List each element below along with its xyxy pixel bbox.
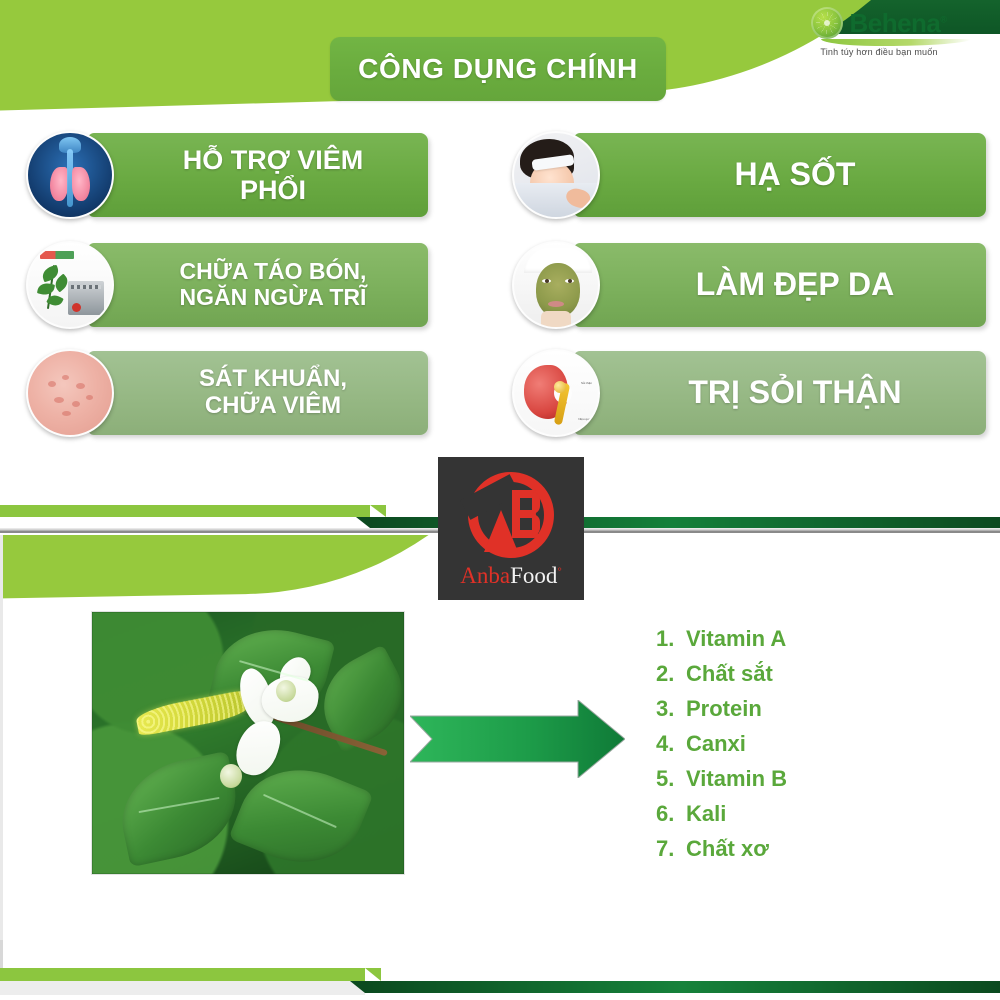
anbafood-logo: AnbaFood° — [438, 457, 584, 600]
right-arrow-icon — [410, 700, 625, 778]
benefit-label: TRỊ SỎI THẬN — [688, 375, 901, 411]
benefit-bar: HỖ TRỢ VIÊM PHỔI — [88, 133, 428, 217]
list-item-label: Canxi — [686, 733, 746, 755]
benefit-label: SÁT KHUẨN, CHỮA VIÊM — [199, 366, 347, 420]
list-item-label: Chất xơ — [686, 838, 769, 860]
benefit-label: LÀM ĐẸP DA — [696, 267, 895, 303]
list-item-label: Vitamin B — [686, 768, 787, 790]
registered-mark: ® — [940, 14, 946, 24]
list-item-number: 1. — [656, 628, 678, 650]
list-item: 2. Chất sắt — [656, 663, 787, 685]
list-item-label: Protein — [686, 698, 762, 720]
benefit-bar: TRỊ SỎI THẬN — [574, 351, 986, 435]
lungs-anatomy-icon — [26, 131, 114, 219]
page-title-banner: CÔNG DỤNG CHÍNH — [330, 37, 666, 101]
list-item: 7. Chất xơ — [656, 838, 787, 860]
list-item: 1. Vitamin A — [656, 628, 787, 650]
degree-mark: ° — [557, 565, 561, 577]
list-item-number: 7. — [656, 838, 678, 860]
list-item-number: 4. — [656, 733, 678, 755]
list-item: 4. Canxi — [656, 733, 787, 755]
child-fever-icon — [512, 131, 600, 219]
list-item: 6. Kali — [656, 803, 787, 825]
benefit-label: HẠ SỐT — [735, 157, 856, 193]
lime-fruit-icon — [811, 7, 843, 39]
benefit-bar: CHỮA TÁO BÓN, NGĂN NGỪA TRĨ — [88, 243, 428, 327]
brand-name: Behena® — [849, 10, 946, 36]
list-item-label: Vitamin A — [686, 628, 786, 650]
list-item: 3. Protein — [656, 698, 787, 720]
list-item-label: Chất sắt — [686, 663, 773, 685]
behena-logo: Behena® Tinh túy hơn điều bạn muốn — [774, 6, 984, 58]
page-title: CÔNG DỤNG CHÍNH — [358, 53, 638, 85]
list-item-label: Kali — [686, 803, 726, 825]
benefit-bar: LÀM ĐẸP DA — [574, 243, 986, 327]
houttuynia-cordata-plant-photo — [92, 612, 404, 874]
benefit-label: HỖ TRỢ VIÊM PHỔI — [183, 145, 364, 205]
ab-monogram-icon — [468, 472, 554, 558]
list-item-number: 5. — [656, 768, 678, 790]
food-text-white: Food — [510, 563, 557, 588]
kidney-stone-icon: Sỏi thận Niệu quản — [512, 349, 600, 437]
benefit-bar: HẠ SỐT — [574, 133, 986, 217]
skin-rash-icon — [26, 349, 114, 437]
nutrient-list: 1. Vitamin A 2. Chất sắt 3. Protein 4. C… — [656, 628, 787, 873]
list-item: 5. Vitamin B — [656, 768, 787, 790]
anbafood-wordmark: AnbaFood° — [460, 564, 562, 587]
list-item-number: 6. — [656, 803, 678, 825]
face-mask-icon — [512, 241, 600, 329]
footer-divider — [0, 940, 1000, 1000]
infographic-page: CÔNG DỤNG CHÍNH Behena® Tinh túy hơn điề… — [0, 0, 1000, 1000]
herb-digestive-icon — [26, 241, 114, 329]
brand-swoosh-decoration — [821, 39, 971, 46]
list-item-number: 3. — [656, 698, 678, 720]
benefit-label: CHỮA TÁO BÓN, NGĂN NGỪA TRĨ — [180, 259, 367, 311]
brand-tagline: Tinh túy hơn điều bạn muốn — [820, 47, 937, 57]
anba-text-red: Anba — [460, 563, 510, 588]
benefit-bar: SÁT KHUẨN, CHỮA VIÊM — [88, 351, 428, 435]
list-item-number: 2. — [656, 663, 678, 685]
kidney-label-2: Niệu quản — [578, 417, 592, 421]
kidney-label-1: Sỏi thận — [581, 381, 592, 385]
